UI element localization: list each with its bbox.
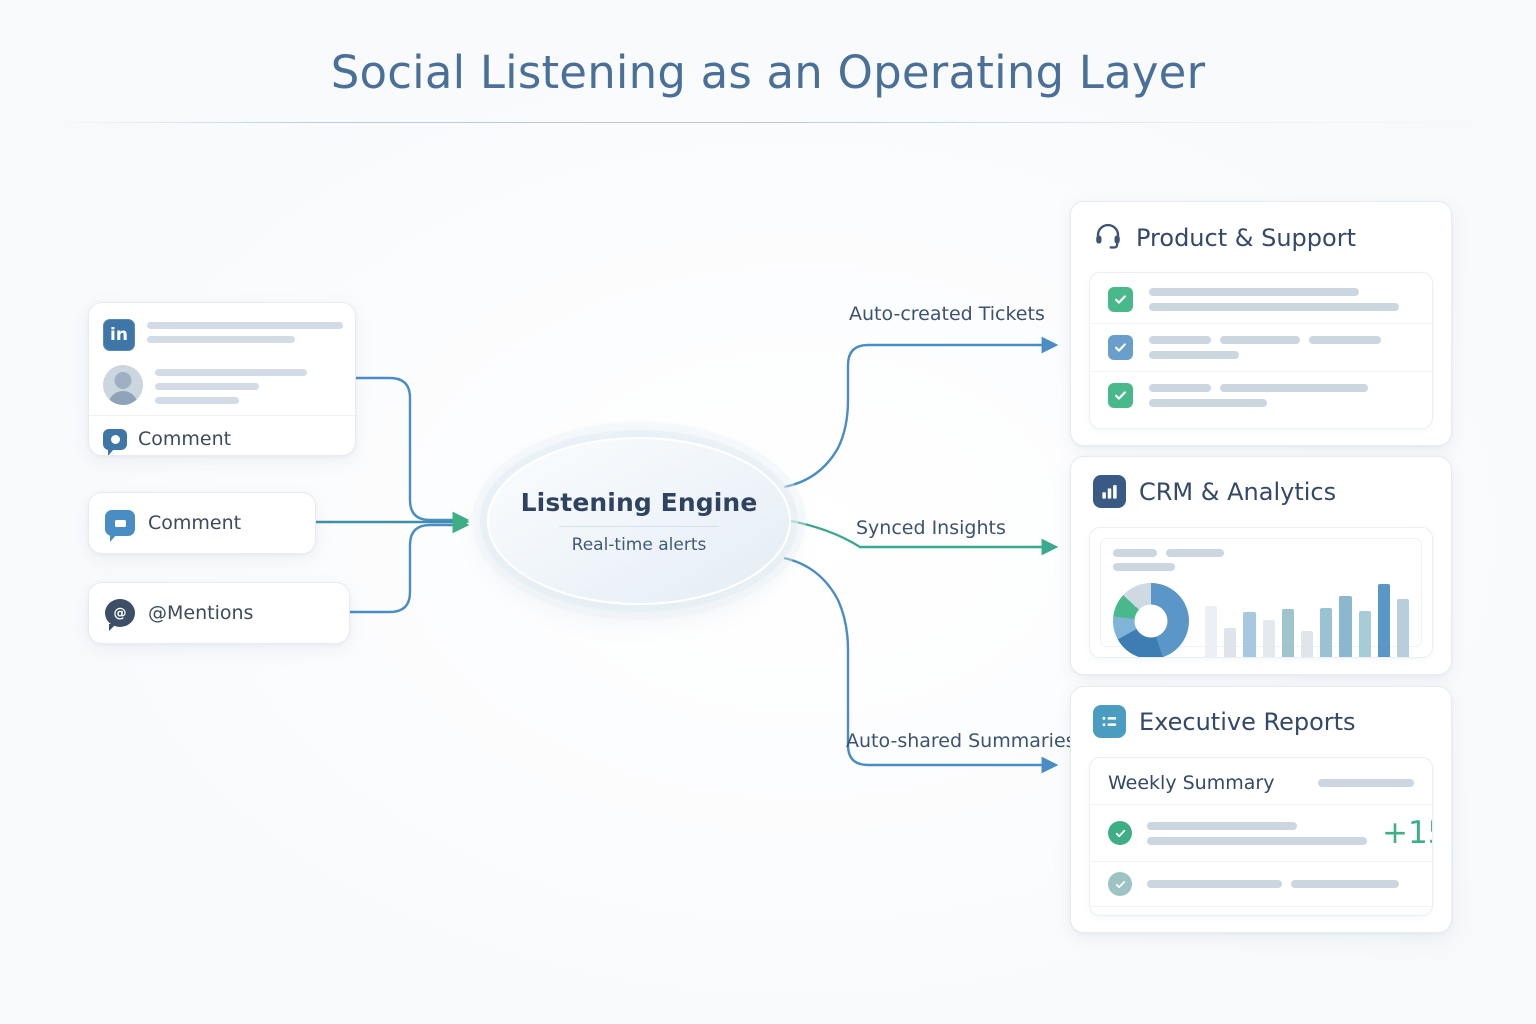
placeholder-bar (1147, 837, 1367, 845)
placeholder-bar (1149, 384, 1211, 392)
table-row[interactable] (1090, 371, 1432, 419)
placeholder-bar (1309, 336, 1381, 344)
placeholder-bar (1149, 303, 1399, 311)
card-title: Executive Reports (1139, 708, 1356, 736)
placeholder-lines (1149, 288, 1414, 311)
placeholder-bar (155, 383, 259, 390)
destination-card-executive-reports[interactable]: Executive Reports Weekly Summary +15% (1070, 686, 1452, 933)
placeholder-lines (1149, 384, 1414, 407)
placeholder-bar (155, 369, 307, 376)
check-icon (1108, 872, 1132, 896)
edge-label-summaries: Auto-shared Summaries (846, 730, 1076, 752)
ticket-list-panel (1089, 272, 1433, 429)
card-title: CRM & Analytics (1139, 478, 1336, 506)
table-row[interactable] (1090, 273, 1432, 323)
placeholder-lines (1147, 880, 1399, 888)
linkedin-icon: in (103, 319, 135, 351)
placeholder-bar (1149, 399, 1267, 407)
linkedin-comment-action[interactable]: Comment (89, 415, 355, 456)
avatar-head (115, 372, 132, 389)
analytics-panel (1089, 527, 1433, 658)
check-icon (1108, 821, 1132, 845)
source-card-mentions[interactable]: @ @Mentions (88, 582, 350, 644)
list-item[interactable] (1090, 906, 1432, 916)
linkedin-post-body: in (89, 303, 355, 415)
placeholder-bar (147, 336, 295, 343)
list-item[interactable]: +15% (1090, 804, 1432, 861)
chart-bar (1301, 631, 1313, 658)
edge-label-tickets: Auto-created Tickets (849, 303, 1045, 325)
card-header: Executive Reports (1071, 687, 1451, 738)
chart-bar (1205, 606, 1217, 658)
destination-card-product-support[interactable]: Product & Support (1070, 201, 1452, 446)
destination-card-crm-analytics[interactable]: CRM & Analytics (1070, 456, 1452, 675)
chart-area (1100, 538, 1422, 647)
edge-label-insights: Synced Insights (856, 517, 1006, 539)
check-icon (1108, 383, 1133, 408)
chart-bar (1263, 620, 1275, 658)
placeholder-lines (1149, 336, 1414, 359)
placeholder-bar (1147, 822, 1297, 830)
panel-header: Weekly Summary (1090, 758, 1432, 804)
engine-subtitle: Real-time alerts (572, 535, 707, 555)
source-card-comment[interactable]: Comment (88, 492, 316, 554)
headset-icon (1093, 220, 1123, 255)
donut-chart (1113, 583, 1189, 658)
metric-value: +15% (1382, 815, 1433, 851)
comment-label: Comment (138, 428, 231, 450)
engine-title: Listening Engine (521, 488, 758, 517)
check-icon (1108, 335, 1133, 360)
placeholder-bar (1166, 549, 1224, 557)
chart-bar (1339, 596, 1351, 658)
placeholder-lines (1147, 822, 1367, 845)
linkedin-post-header: in (103, 319, 341, 351)
chart-bar (1224, 628, 1236, 658)
weekly-summary-title: Weekly Summary (1108, 772, 1274, 794)
chart-bar (1282, 609, 1294, 658)
card-title: Product & Support (1136, 224, 1356, 252)
engine-divider (559, 526, 719, 527)
placeholder-bar (1220, 336, 1300, 344)
source-label-comment: Comment (148, 512, 241, 534)
diagram-canvas: Social Listening as an Operating Layer A… (0, 0, 1536, 1024)
chart-bar (1397, 599, 1409, 658)
title-divider (60, 122, 1476, 123)
listening-engine-node[interactable]: Listening Engine Real-time alerts (487, 437, 791, 605)
check-icon (1108, 287, 1133, 312)
placeholder-bar (147, 322, 343, 329)
linkedin-comment-preview (103, 365, 341, 405)
page-title: Social Listening as an Operating Layer (0, 46, 1536, 99)
bar-chart (1205, 574, 1409, 658)
table-row[interactable] (1090, 323, 1432, 371)
comment-bubble-icon (105, 510, 135, 536)
placeholder-bar (1113, 549, 1157, 557)
placeholder-bar (1149, 336, 1211, 344)
bar-chart-icon (1093, 475, 1126, 508)
source-card-linkedin[interactable]: in Comment (88, 302, 356, 456)
placeholder-lines (147, 319, 343, 343)
chart-bar (1320, 608, 1332, 658)
card-header: CRM & Analytics (1071, 457, 1451, 508)
placeholder-bar (1147, 880, 1282, 888)
avatar (103, 365, 143, 405)
placeholder-bar (1113, 563, 1175, 571)
list-item[interactable] (1090, 861, 1432, 906)
placeholder-bar (155, 397, 239, 404)
chart-bar (1359, 611, 1371, 658)
chart-bar (1243, 612, 1255, 658)
placeholder-bar (1291, 880, 1399, 888)
chart-legend-placeholder (1113, 549, 1409, 571)
placeholder-bar (1149, 288, 1359, 296)
placeholder-bar (1220, 384, 1368, 392)
placeholder-bar (1318, 779, 1414, 787)
chart-bar (1378, 584, 1390, 658)
chart-body (1113, 575, 1409, 658)
list-icon (1093, 705, 1126, 738)
comment-bubble-icon (103, 429, 127, 450)
source-label-mentions: @Mentions (148, 602, 253, 624)
at-mention-icon: @ (105, 599, 135, 627)
weekly-summary-panel: Weekly Summary +15% (1089, 757, 1433, 916)
card-header: Product & Support (1071, 202, 1451, 255)
avatar-body (108, 391, 138, 405)
placeholder-lines (155, 366, 341, 404)
placeholder-bar (1149, 351, 1239, 359)
